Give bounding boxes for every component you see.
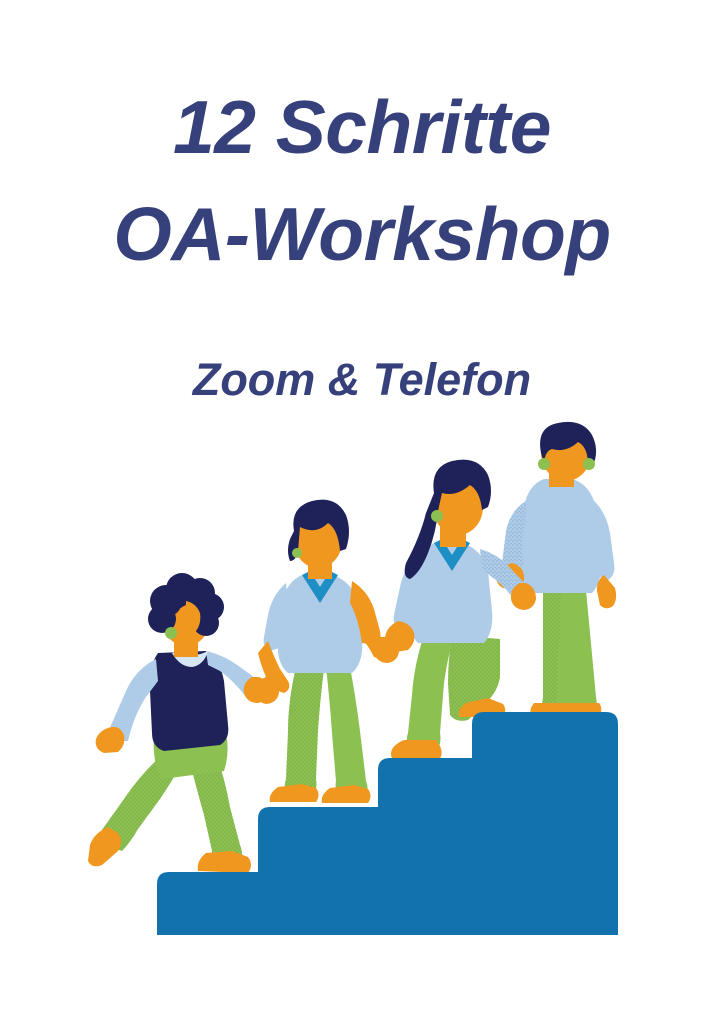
title-line-2: OA-Workshop — [0, 181, 724, 288]
poster-canvas: 12 Schritte OA-Workshop Zoom & Telefon — [0, 0, 724, 1024]
step-1 — [157, 872, 258, 935]
step-2 — [258, 807, 378, 935]
step-4 — [472, 712, 618, 935]
people-climbing-stairs-illustration — [0, 415, 724, 975]
subtitle-line-1: Zoom & Telefon — [0, 353, 724, 407]
figure-1-climber — [88, 573, 269, 873]
step-3 — [378, 758, 472, 935]
figure-4-leader — [497, 422, 617, 715]
page-title: 12 Schritte OA-Workshop — [0, 74, 724, 287]
title-line-1: 12 Schritte — [0, 74, 724, 181]
page-subtitle: Zoom & Telefon — [0, 353, 724, 407]
figure-2-helper — [255, 500, 399, 803]
